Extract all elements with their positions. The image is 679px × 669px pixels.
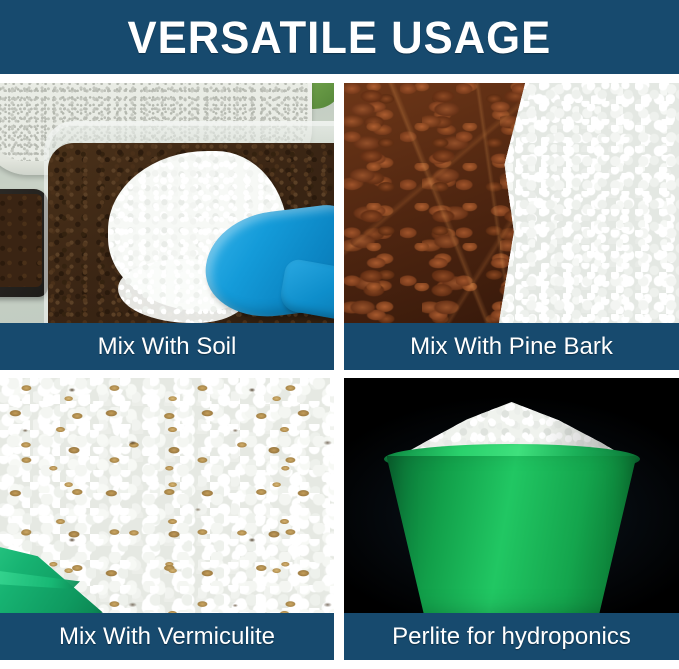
panel-mix-with-vermiculite: Mix With Vermiculite <box>0 378 334 660</box>
caption-bar-perlite-for-hydroponics: Perlite for hydroponics <box>344 613 679 660</box>
soil-scene-background <box>0 83 334 323</box>
perlite-granules <box>491 83 679 323</box>
panel-mix-with-pine-bark: Mix With Pine Bark <box>344 83 679 370</box>
caption-label: Mix With Soil <box>98 335 237 359</box>
caption-label: Mix With Vermiculite <box>59 625 275 649</box>
caption-bar-mix-with-soil: Mix With Soil <box>0 323 334 370</box>
panel-mix-with-soil: Mix With Soil <box>0 83 334 370</box>
photo-mix-with-vermiculite <box>0 378 334 613</box>
versatile-usage-infographic: VERSATILE USAGE Mix With Soil <box>0 0 679 669</box>
caption-label: Mix With Pine Bark <box>410 335 613 359</box>
caption-label: Perlite for hydroponics <box>392 625 631 649</box>
caption-bar-mix-with-pine-bark: Mix With Pine Bark <box>344 323 679 370</box>
photo-mix-with-soil <box>0 83 334 323</box>
header-banner: VERSATILE USAGE <box>0 0 679 74</box>
photo-perlite-for-hydroponics <box>344 378 679 613</box>
green-plant-pot <box>387 456 637 613</box>
caption-bar-mix-with-vermiculite: Mix With Vermiculite <box>0 613 334 660</box>
black-backdrop <box>344 378 679 613</box>
page-title: VERSATILE USAGE <box>128 15 552 60</box>
photo-mix-with-pine-bark <box>344 83 679 323</box>
panel-perlite-for-hydroponics: Perlite for hydroponics <box>344 378 679 660</box>
bark-scene-background <box>344 83 679 323</box>
perlite-closeup <box>0 378 334 613</box>
black-nursery-pot <box>0 189 48 297</box>
